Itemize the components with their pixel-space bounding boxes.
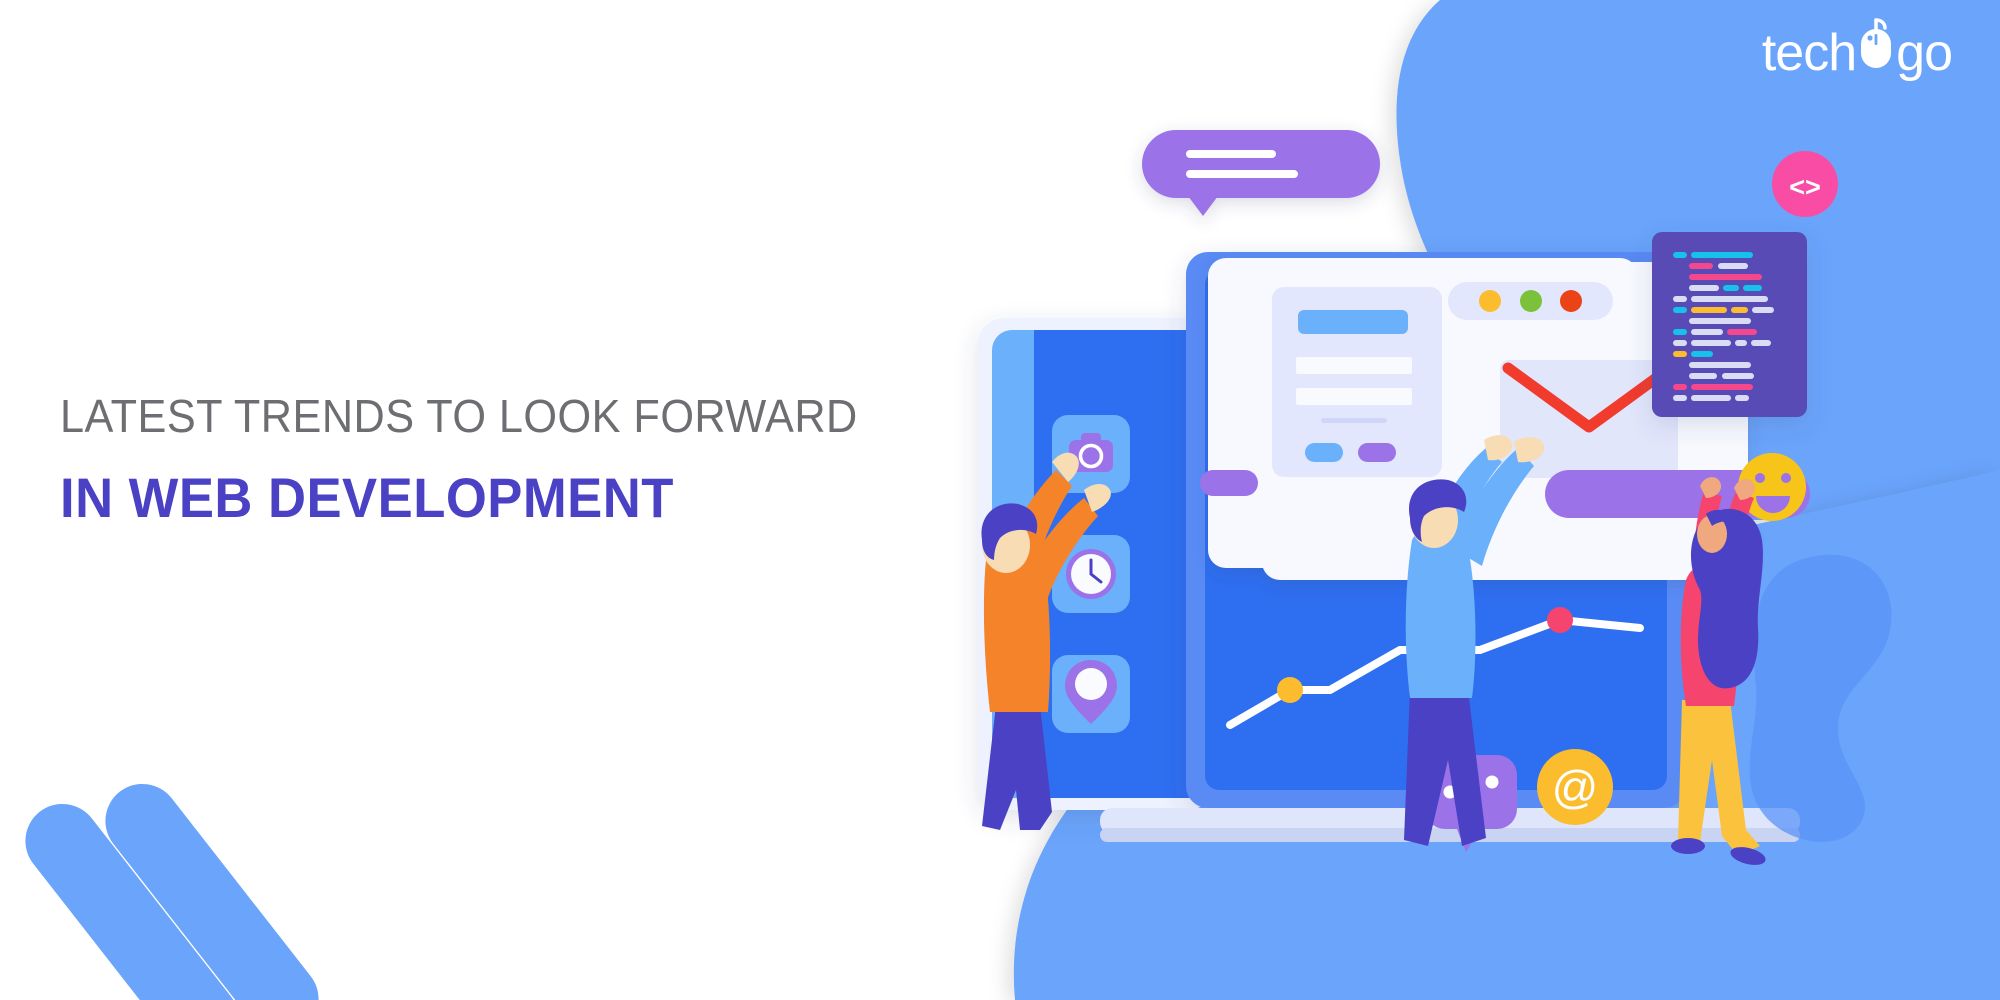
purple-chip <box>1200 470 1258 496</box>
code-editor-panel[interactable] <box>1652 232 1807 417</box>
form-card[interactable] <box>1272 287 1442 477</box>
form-secondary-button[interactable] <box>1358 443 1396 462</box>
code-brackets-badge[interactable]: <> <box>1772 151 1838 217</box>
window-dot-yellow[interactable] <box>1479 290 1501 312</box>
form-helper-line <box>1321 418 1387 423</box>
window-dot-green[interactable] <box>1520 290 1542 312</box>
form-field-2[interactable] <box>1296 388 1412 405</box>
at-symbol-glyph: @ <box>1552 761 1599 813</box>
form-header-bar <box>1298 310 1408 334</box>
form-field-1[interactable] <box>1296 357 1412 374</box>
speech-bubble-line-1 <box>1186 150 1276 158</box>
speech-bubble-line-2 <box>1186 170 1298 178</box>
window-controls-pill <box>1448 282 1613 320</box>
decor-blob-right <box>1750 555 1892 842</box>
poster-canvas: LATEST TRENDS TO LOOK FORWARD IN WEB DEV… <box>0 0 2000 1000</box>
web-development-illustration: <> @ <box>0 0 2000 1000</box>
clock-icon <box>1066 549 1116 599</box>
chart-marker-pink <box>1547 607 1573 633</box>
window-dot-red[interactable] <box>1560 290 1582 312</box>
chart-marker-yellow <box>1277 677 1303 703</box>
code-brackets-glyph: <> <box>1789 172 1821 202</box>
at-symbol-badge[interactable]: @ <box>1537 749 1613 825</box>
two-finger-swipe-shape <box>10 769 333 1000</box>
location-pin-icon-tile[interactable] <box>1052 655 1130 733</box>
form-primary-button[interactable] <box>1305 443 1343 462</box>
speech-bubble[interactable] <box>1142 130 1380 216</box>
